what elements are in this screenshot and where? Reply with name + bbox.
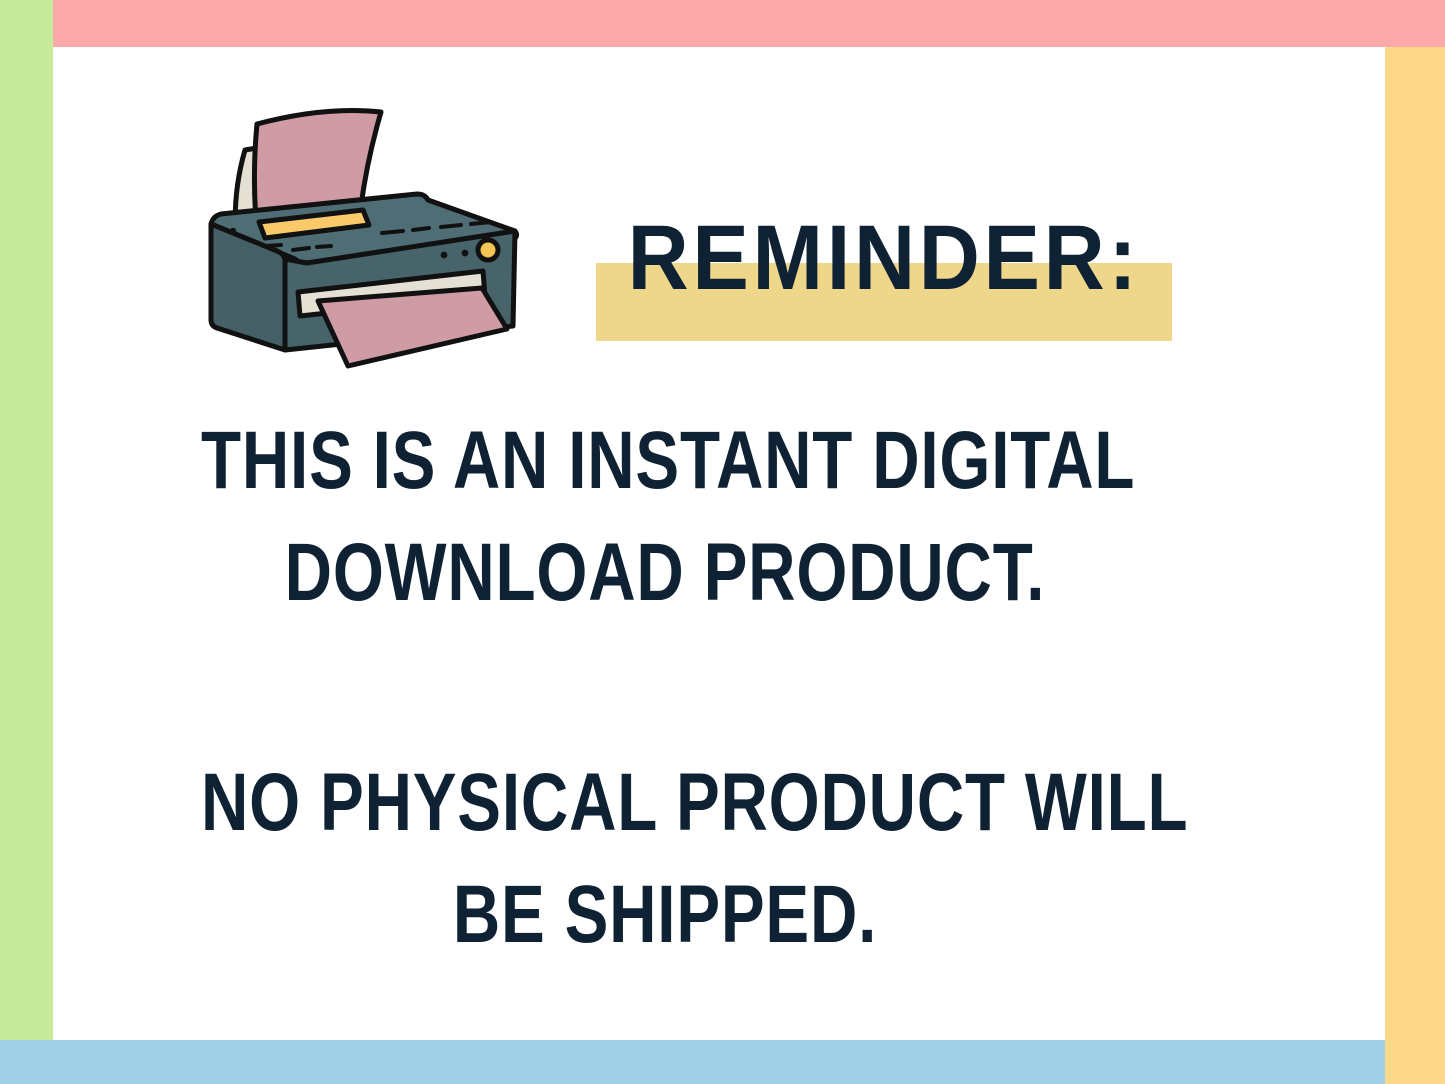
copy-paragraph-gap [85, 629, 1245, 747]
yellow-band [1385, 47, 1445, 1084]
printer-indicator-dot-3 [230, 228, 236, 234]
copy-line-2: DOWNLOAD PRODUCT. [201, 517, 1129, 629]
printer-power-led [478, 240, 498, 260]
poster-canvas: REMINDER: THIS IS AN INSTANT DIGITAL DOW… [0, 0, 1445, 1084]
pink-band [53, 0, 1445, 47]
printer-icon-graphic [185, 98, 540, 383]
printer-indicator-dot-1 [462, 250, 469, 257]
printer-output-paper [318, 288, 507, 366]
green-band [0, 0, 53, 1040]
printer-icon [185, 98, 540, 383]
copy-line-4: BE SHIPPED. [201, 859, 1129, 971]
printer-indicator-dot-2 [441, 252, 448, 259]
blue-band [0, 1040, 1385, 1084]
copy-line-3: NO PHYSICAL PRODUCT WILL [201, 747, 1129, 859]
body-copy-block: THIS IS AN INSTANT DIGITAL DOWNLOAD PROD… [85, 405, 1245, 971]
page-title: REMINDER: [619, 208, 1149, 308]
headline-block: REMINDER: [596, 208, 1196, 348]
copy-line-1: THIS IS AN INSTANT DIGITAL [201, 405, 1129, 517]
